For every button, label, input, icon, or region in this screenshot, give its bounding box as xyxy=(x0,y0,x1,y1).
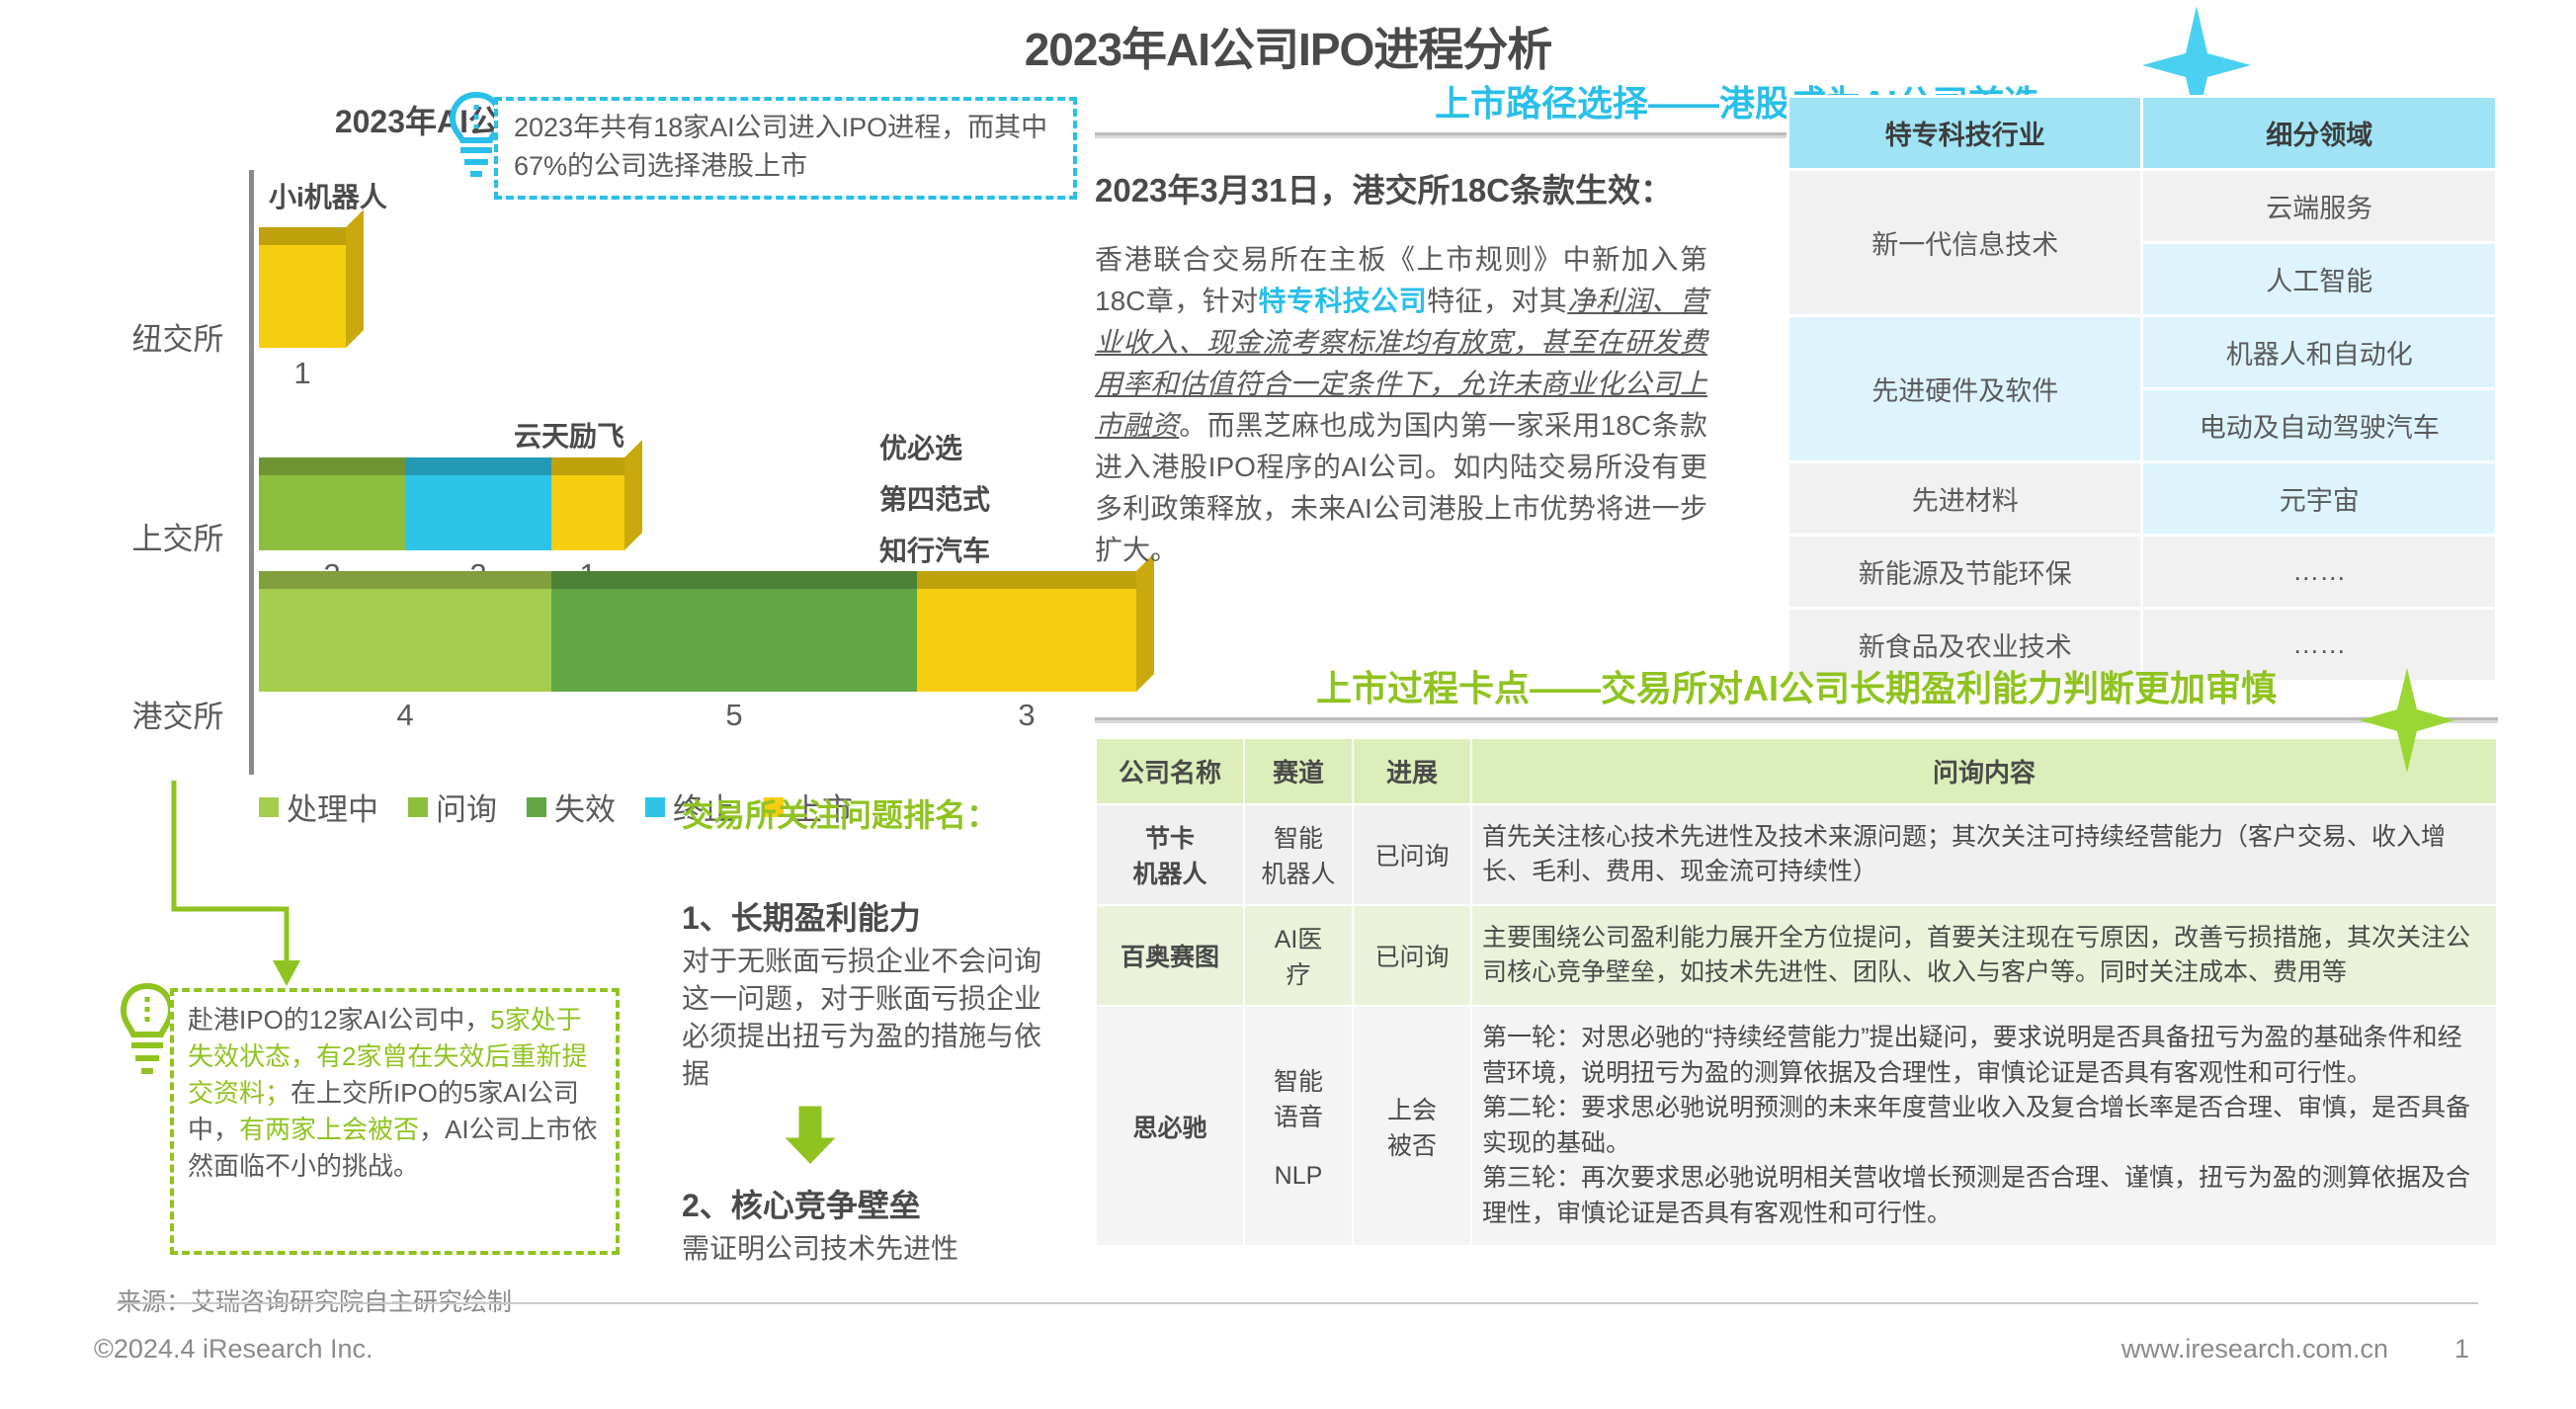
footer-website: www.iresearch.com.cn xyxy=(2121,1334,2388,1365)
question-heading-1: 1、长期盈利能力 xyxy=(682,893,1067,939)
tech-sectors-table: 特专科技行业 细分领域 新一代信息技术 云端服务 人工智能 先进硬件及软件 机器… xyxy=(1787,95,2498,683)
cell-company: 节卡 机器人 xyxy=(1096,804,1244,905)
bar-hkex xyxy=(259,573,1136,692)
insight-text-1: 赴港IPO的12家AI公司中， xyxy=(188,1005,490,1035)
cell-industry-2: 先进硬件及软件 xyxy=(1788,316,2142,462)
cell-track: 智能 语音 NLP xyxy=(1244,1006,1353,1246)
source-note: 来源：艾瑞咨询研究院自主研究绘制 xyxy=(117,1283,512,1318)
chart-callout-text: 2023年共有18家AI公司进入IPO进程，而其中67%的公司选择港股上市 xyxy=(514,113,1047,181)
th-industry: 特专科技行业 xyxy=(1788,97,2142,170)
cell-field-1a: 云端服务 xyxy=(2142,170,2497,243)
cell-company: 思必驰 xyxy=(1096,1006,1244,1246)
bar-sse xyxy=(259,459,624,550)
footer-page-number: 1 xyxy=(2454,1334,2469,1365)
bar-seg-top xyxy=(405,457,551,475)
question-heading-2: 2、核心竞争壁垒 xyxy=(682,1181,1067,1226)
legend-swatch-icon xyxy=(527,797,546,817)
chart-axis xyxy=(249,170,254,775)
cell-field-2a: 机器人和自动化 xyxy=(2142,316,2497,389)
connector-arrow-icon xyxy=(170,781,407,998)
table-row: 新一代信息技术 云端服务 xyxy=(1788,170,2497,243)
para-seg-3: 特征，对其 xyxy=(1427,286,1567,316)
th-company: 公司名称 xyxy=(1096,738,1244,804)
cell-track: AI医 疗 xyxy=(1244,905,1353,1006)
legend-label: 失效 xyxy=(554,785,616,829)
bar-seg-top xyxy=(259,457,405,475)
table-header-row: 特专科技行业 细分领域 xyxy=(1788,97,2497,170)
cell-industry-3: 先进材料 xyxy=(1788,462,2142,536)
cell-company: 百奥赛图 xyxy=(1096,905,1244,1006)
bar-seg-sse-listed xyxy=(551,459,624,550)
th-content: 问询内容 xyxy=(1471,738,2497,804)
footer-divider xyxy=(117,1302,2478,1304)
bar-seg-sse-terminated xyxy=(405,459,551,550)
category-label-sse: 上交所 xyxy=(109,514,247,558)
bar-seg-sse-inquiry xyxy=(259,459,405,550)
para-seg-5: 。而黑芝麻也成为国内第一家采用18C条款进入港股IPO程序的AI公司。如内陆交易… xyxy=(1095,410,1707,565)
down-arrow-icon xyxy=(776,1103,845,1170)
bar-value-nyse-listed: 1 xyxy=(259,356,346,391)
section-title-blockers: 上市过程卡点——交易所对AI公司长期盈利能力判断更加审慎 xyxy=(1095,660,2498,711)
bar-seg-nyse-listed xyxy=(259,229,346,348)
category-label-hkex: 港交所 xyxy=(109,692,247,736)
table-row: 先进硬件及软件 机器人和自动化 xyxy=(1788,316,2497,389)
cell-content: 主要围绕公司盈利能力展开全方位提问，首要关注现在亏原因，改善亏损措施，其次关注公… xyxy=(1471,905,2497,1006)
cell-track: 智能 机器人 xyxy=(1244,804,1353,905)
th-field: 细分领域 xyxy=(2142,97,2497,170)
table-row: 先进材料 元宇宙 xyxy=(1788,462,2497,536)
question-body-1: 对于无账面亏损企业不会问询这一问题，对于账面亏损企业必须提出扭亏为盈的措施与依据 xyxy=(682,943,1067,1093)
lightbulb-icon xyxy=(117,980,178,1099)
question-body-2: 需证明公司技术先进性 xyxy=(682,1230,1067,1268)
bar-value-hkex-lapsed: 5 xyxy=(551,698,917,733)
cell-progress: 已问询 xyxy=(1353,804,1471,905)
exchange-questions-panel: 交易所关注问题排名： 1、长期盈利能力 对于无账面亏损企业不会问询这一问题，对于… xyxy=(682,790,1067,1268)
category-label-nyse: 纽交所 xyxy=(109,314,247,359)
cell-industry-4: 新能源及节能环保 xyxy=(1788,536,2142,609)
th-progress: 进展 xyxy=(1353,738,1471,804)
company-label-sse: 云天励飞 xyxy=(514,415,624,455)
legend-swatch-icon xyxy=(645,797,665,817)
table-row: 思必驰 智能 语音 NLP 上会 被否 第一轮：对思必驰的“持续经营能力”提出疑… xyxy=(1096,1006,2497,1246)
chart-insight-box: 赴港IPO的12家AI公司中，5家处于失效状态，有2家曾在失效后重新提交资料；在… xyxy=(170,988,620,1255)
section-divider xyxy=(1095,717,2498,723)
insight-text-4: 有两家上会被否 xyxy=(239,1115,419,1144)
bar-nyse xyxy=(259,229,346,348)
bar-seg-hkex-lapsed xyxy=(551,573,917,692)
bar-seg-side xyxy=(346,209,364,348)
cell-content: 首先关注核心技术先进性及技术来源问题；其次关注可持续经营能力（客户交易、收入增长… xyxy=(1471,804,2497,905)
cell-content: 第一轮：对思必驰的“持续经营能力”提出疑问，要求说明是否具备扭亏为盈的基础条件和… xyxy=(1471,1006,2497,1246)
bar-seg-top xyxy=(259,227,346,245)
table-header-row: 公司名称 赛道 进展 问询内容 xyxy=(1096,738,2497,804)
bar-seg-hkex-processing xyxy=(259,573,551,692)
company-label-hkex-2: 第四范式 xyxy=(879,478,990,518)
legend-item-lapsed: 失效 xyxy=(527,785,616,829)
table-row: 节卡 机器人 智能 机器人 已问询 首先关注核心技术先进性及技术来源问题；其次关… xyxy=(1096,804,2497,905)
th-track: 赛道 xyxy=(1244,738,1353,804)
bar-seg-side xyxy=(624,440,642,550)
chart-callout-box: 2023年共有18家AI公司进入IPO进程，而其中67%的公司选择港股上市 xyxy=(494,97,1077,200)
cell-field-3: 元宇宙 xyxy=(2142,462,2497,536)
footer-copyright: ©2024.4 iResearch Inc. xyxy=(94,1334,374,1365)
company-label-hkex-3: 知行汽车 xyxy=(879,530,990,569)
company-label-nyse: 小i机器人 xyxy=(269,176,387,215)
legend-label: 问询 xyxy=(436,785,497,829)
legend-swatch-icon xyxy=(408,797,428,817)
infographic-page: 2023年AI公司IPO进程分析 2023年AI公司IPO进程总览 2023年共… xyxy=(0,0,2576,1409)
company-label-hkex-1: 优必选 xyxy=(879,427,962,466)
table-row: 新能源及节能环保 …… xyxy=(1788,536,2497,609)
bar-value-hkex-processing: 4 xyxy=(259,698,551,733)
cell-field-4: …… xyxy=(2142,536,2497,609)
cell-field-1b: 人工智能 xyxy=(2142,243,2497,316)
cell-field-2b: 电动及自动驾驶汽车 xyxy=(2142,389,2497,462)
bar-seg-top xyxy=(551,457,624,475)
para-seg-highlight: 特专科技公司 xyxy=(1259,286,1428,316)
bar-seg-top xyxy=(259,571,551,589)
legend-item-inquiry: 问询 xyxy=(408,785,497,829)
cell-industry-1: 新一代信息技术 xyxy=(1788,170,2142,316)
cell-progress: 上会 被否 xyxy=(1353,1006,1471,1246)
cell-progress: 已问询 xyxy=(1353,905,1471,1006)
exchange-questions-title: 交易所关注问题排名： xyxy=(682,790,1067,836)
article-paragraph: 香港联合交易所在主板《上市规则》中新加入第18C章，针对特专科技公司特征，对其净… xyxy=(1095,239,1707,571)
right-column: 上市路径选择——港股成为AI公司首选 2023年3月31日，港交所18C条款生效… xyxy=(1095,75,2498,1247)
blockers-table: 公司名称 赛道 进展 问询内容 节卡 机器人 智能 机器人 已问询 首先关注核心… xyxy=(1095,737,2498,1247)
bar-seg-top xyxy=(551,571,917,589)
table-row: 百奥赛图 AI医 疗 已问询 主要围绕公司盈利能力展开全方位提问，首要关注现在亏… xyxy=(1096,905,2497,1006)
